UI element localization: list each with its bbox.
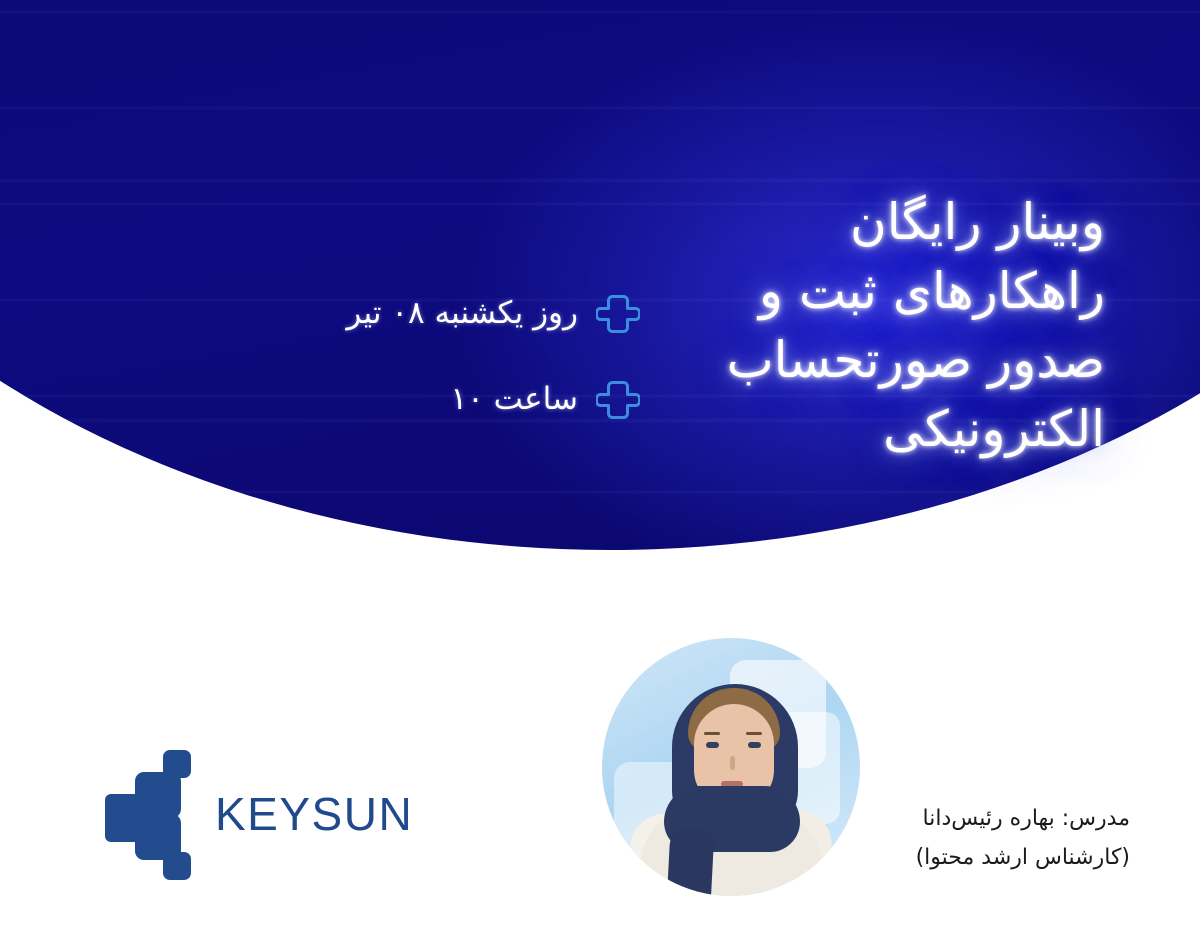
event-time-text: ساعت ۱۰ xyxy=(450,381,578,418)
headline-title: وبینار رایگان راهکارهای ثبت و صدور صورتح… xyxy=(585,188,1105,464)
presenter-name: مدرس: بهاره رئیس‌دانا xyxy=(923,806,1131,831)
event-time-row: ساعت ۱۰ xyxy=(220,378,640,422)
presenter-caption: مدرس: بهاره رئیس‌دانا (کارشناس ارشد محتو… xyxy=(810,800,1130,877)
keysun-logo: KEYSUN xyxy=(105,748,413,880)
event-date-row: روز یکشنبه ۰۸ تیر xyxy=(220,292,640,336)
event-info-block: روز یکشنبه ۰۸ تیر ساعت ۱۰ xyxy=(220,292,640,464)
webinar-poster: وبینار رایگان راهکارهای ثبت و صدور صورتح… xyxy=(0,0,1200,948)
keysun-wordmark: KEYSUN xyxy=(215,791,413,837)
plus-icon xyxy=(596,378,640,422)
event-date-text: روز یکشنبه ۰۸ تیر xyxy=(346,295,578,332)
presenter-role: (کارشناس ارشد محتوا) xyxy=(810,839,1130,878)
plus-icon xyxy=(596,292,640,336)
keysun-mark-icon xyxy=(105,748,197,880)
